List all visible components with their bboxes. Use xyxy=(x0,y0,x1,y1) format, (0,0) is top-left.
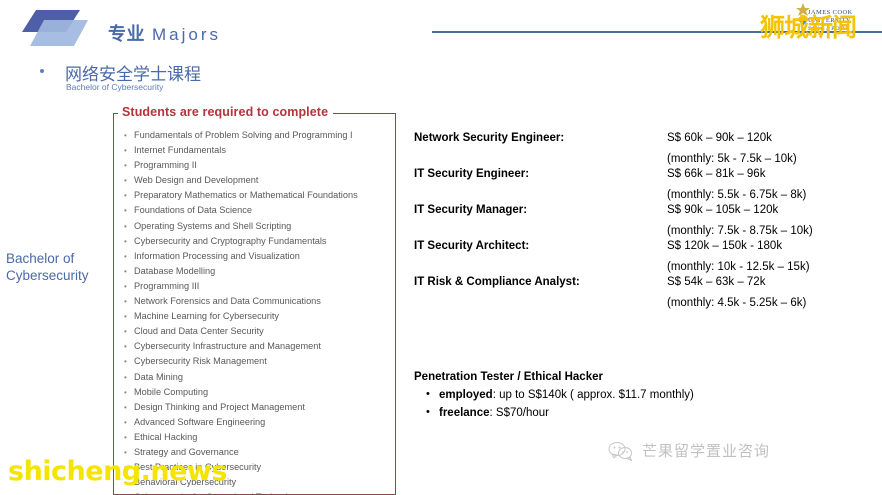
pentest-freelance-label: freelance xyxy=(439,407,490,419)
salary-annual: S$ 66k – 81k – 96k xyxy=(667,168,765,180)
salary-role: Network Security Engineer: xyxy=(414,132,564,144)
pentest-employed-value: : up to S$140k ( approx. $11.7 monthly) xyxy=(493,389,694,401)
salary-row: IT Security Architect:S$ 120k – 150k - 1… xyxy=(414,240,874,276)
salary-monthly: (monthly: 5k - 7.5k – 10k) xyxy=(667,153,797,165)
subheading-en: Bachelor of Cybersecurity xyxy=(66,82,163,92)
page-title-en: Majors xyxy=(152,25,221,44)
course-item: Foundations of Data Science xyxy=(124,203,392,218)
course-item: Design Thinking and Project Management xyxy=(124,400,392,415)
salary-role: IT Security Architect: xyxy=(414,240,529,252)
pentest-block: Penetration Tester / Ethical Hacker empl… xyxy=(414,371,844,419)
pentest-item-freelance: freelance: S$70/hour xyxy=(439,407,844,419)
wechat-account-label: 芒果留学置业咨询 xyxy=(642,440,770,461)
page-title: 专业Majors xyxy=(108,20,221,46)
slide-canvas: 专业Majors 网络安全学士课程 Bachelor of Cybersecur… xyxy=(0,0,882,495)
bullet-icon xyxy=(40,69,44,73)
salary-role: IT Risk & Compliance Analyst: xyxy=(414,276,580,288)
course-item: Data Mining xyxy=(124,370,392,385)
salary-annual: S$ 54k – 63k – 72k xyxy=(667,276,765,288)
courses-list: Fundamentals of Problem Solving and Prog… xyxy=(124,128,392,495)
salary-monthly: (monthly: 7.5k - 8.75k – 10k) xyxy=(667,225,813,237)
pentest-item-employed: employed: up to S$140k ( approx. $11.7 m… xyxy=(439,389,844,401)
courses-box-title: Students are required to complete xyxy=(118,105,333,119)
wechat-footer: 芒果留学置业咨询 xyxy=(608,440,770,461)
course-item: Fundamentals of Problem Solving and Prog… xyxy=(124,128,392,143)
course-item: Mobile Computing xyxy=(124,385,392,400)
page-title-cn: 专业 xyxy=(108,24,145,45)
salary-row: IT Security Manager:S$ 90k – 105k – 120k… xyxy=(414,204,874,240)
pentest-freelance-value: : S$70/hour xyxy=(490,407,549,419)
watermark-top-right: 狮城新闻 xyxy=(760,8,856,44)
salary-monthly: (monthly: 5.5k - 6.75k – 8k) xyxy=(667,189,806,201)
salary-annual: S$ 120k – 150k - 180k xyxy=(667,240,782,252)
course-item: Preparatory Mathematics or Mathematical … xyxy=(124,188,392,203)
watermark-bottom-left: shicheng.news xyxy=(8,456,227,487)
course-item: Database Modelling xyxy=(124,264,392,279)
salary-row: IT Risk & Compliance Analyst:S$ 54k – 63… xyxy=(414,276,874,312)
salary-list: Network Security Engineer:S$ 60k – 90k –… xyxy=(414,132,874,312)
course-item: Network Forensics and Data Communication… xyxy=(124,294,392,309)
course-item: Cloud and Data Center Security xyxy=(124,324,392,339)
salary-monthly: (monthly: 4.5k - 5.25k – 6k) xyxy=(667,297,806,309)
salary-annual: S$ 90k – 105k – 120k xyxy=(667,204,778,216)
course-item: Web Design and Development xyxy=(124,173,392,188)
salary-role: IT Security Engineer: xyxy=(414,168,529,180)
course-item: Programming III xyxy=(124,279,392,294)
salary-monthly: (monthly: 10k - 12.5k – 15k) xyxy=(667,261,810,273)
salary-annual: S$ 60k – 90k – 120k xyxy=(667,132,772,144)
side-label: Bachelor of Cybersecurity xyxy=(6,250,111,284)
course-item: Cybersecurity Risk Management xyxy=(124,354,392,369)
brand-logo-icon xyxy=(14,6,98,54)
salary-row: Network Security Engineer:S$ 60k – 90k –… xyxy=(414,132,874,168)
course-item: Cybersecurity for Operational Technology xyxy=(124,490,392,495)
salary-role: IT Security Manager: xyxy=(414,204,527,216)
pentest-title: Penetration Tester / Ethical Hacker xyxy=(414,371,844,383)
course-item: Internet Fundamentals xyxy=(124,143,392,158)
course-item: Advanced Software Engineering xyxy=(124,415,392,430)
course-item: Information Processing and Visualization xyxy=(124,249,392,264)
salary-row: IT Security Engineer:S$ 66k – 81k – 96k(… xyxy=(414,168,874,204)
pentest-employed-label: employed xyxy=(439,389,493,401)
course-item: Cybersecurity and Cryptography Fundament… xyxy=(124,234,392,249)
course-item: Ethical Hacking xyxy=(124,430,392,445)
course-item: Cybersecurity Infrastructure and Managem… xyxy=(124,339,392,354)
course-item: Operating Systems and Shell Scripting xyxy=(124,219,392,234)
course-item: Machine Learning for Cybersecurity xyxy=(124,309,392,324)
wechat-icon xyxy=(608,441,634,461)
course-item: Programming II xyxy=(124,158,392,173)
